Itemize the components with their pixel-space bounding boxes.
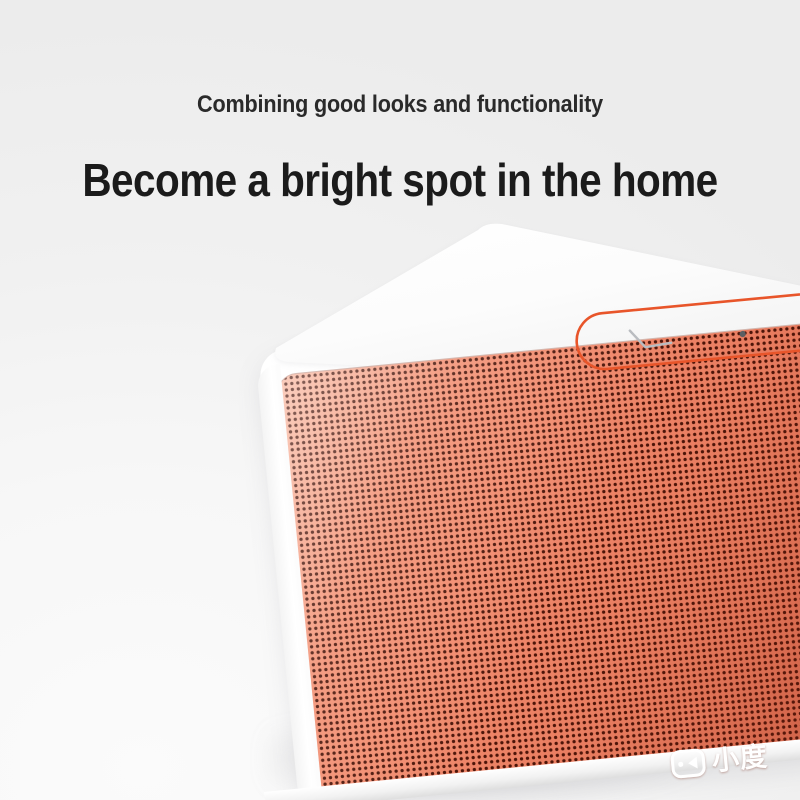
hero-copy-block: Combining good looks and functionality B… <box>0 92 800 205</box>
speaker-grille-texture <box>276 323 800 800</box>
logo-arrow <box>688 757 698 770</box>
indicator-dot-icon <box>739 331 746 338</box>
smart-speaker-product-image: 小度 <box>258 226 800 800</box>
xiaodu-logo-icon <box>670 748 706 779</box>
brand-badge-text: 小度 <box>711 743 769 775</box>
hero-kicker: Combining good looks and functionality <box>40 92 760 118</box>
speaker-grille-panel <box>276 323 800 800</box>
chevron-icon <box>630 327 672 349</box>
hero-headline: Become a bright spot in the home <box>48 156 752 204</box>
logo-dot <box>678 762 683 767</box>
product-hero-scene: Combining good looks and functionality B… <box>0 0 800 800</box>
